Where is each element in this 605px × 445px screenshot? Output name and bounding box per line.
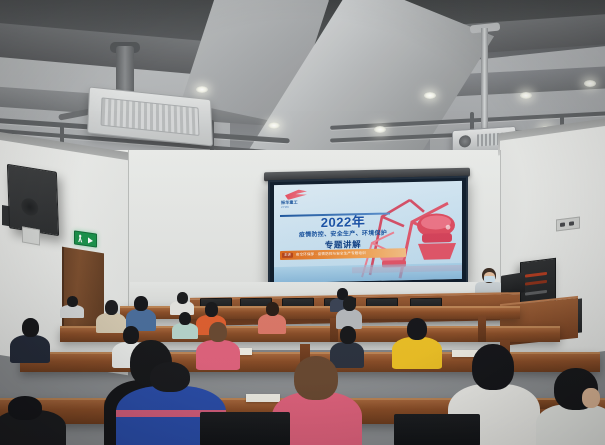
wall-speaker-icon [7,164,59,236]
face-mask-icon [484,276,495,282]
slide-water-band [274,263,462,283]
attendee-body [392,337,442,369]
logo-subname: ZPMC [281,205,315,210]
attendee-head [105,300,118,315]
ac-grille [100,97,199,136]
attendee-grey-shirt [336,296,362,328]
ribbon-badge: 主讲 [282,253,293,258]
attendee-yellow-shirt [392,318,442,366]
projector-pole [481,28,488,132]
rack-panel-slot [525,290,547,296]
speaker-cone-icon [21,197,39,217]
attendee-pink-shirt-row2 [196,322,240,366]
attendee-head [294,356,338,400]
slide-logo: 振华重工 ZPMC [281,189,315,212]
lecture-hall-photo: 振华重工 ZPMC 2022年 疫情防控、安全生产、环境保护 专题讲解 主讲 安… [0,0,605,445]
desk-divider [478,316,486,342]
exit-arrow-icon [88,237,93,244]
attendee-head [150,362,190,392]
projection-screen: 振华重工 ZPMC 2022年 疫情防控、安全生产、环境保护 专题讲解 主讲 安… [268,176,468,289]
attendee-body [536,404,605,445]
ceiling-downlight-icon [196,86,208,93]
attendee-head [22,318,39,337]
ribbon-text: 安全环保部 · 疫情防控与安全生产专题培训 [296,251,366,258]
attendee-salmon-top [258,302,286,332]
attendee-body [172,323,198,339]
exit-running-figure-icon [78,234,83,243]
slide-year: 2022年 [282,214,404,231]
chair-back [200,412,290,445]
rack-status-led [525,280,547,286]
ceiling-downlight-icon [374,126,386,133]
projector-lens-icon [459,135,471,148]
attendee-head [343,296,356,311]
ceiling-downlight-icon [584,80,596,87]
attendee-corner-right [536,368,605,445]
logo-text-block: 振华重工 ZPMC [281,200,315,210]
outlet-socket [569,221,574,226]
wall-junction-box [22,226,40,245]
attendee-denim-jacket [126,296,156,328]
attendee-head [472,344,514,390]
outlet-socket [560,222,565,227]
attendee-head [209,322,227,342]
ceiling-downlight-icon [268,122,280,129]
attendee-head [134,296,148,311]
attendee-face [582,388,600,408]
slide-title-block: 2022年 疫情防控、安全生产、环境保护 专题讲解 [282,214,404,252]
attendee-head [205,302,218,317]
attendee-back-right [60,296,84,316]
ceiling-downlight-icon [424,92,436,99]
attendee-mint-shirt [172,312,198,336]
attendee-body [258,314,286,334]
attendee-head [67,296,78,307]
attendee-head [407,318,427,340]
attendee-foreground-left [0,396,66,445]
ceiling-downlight-icon [520,92,532,99]
attendee-back-left [170,292,194,312]
attendee-head [266,302,279,316]
rack-status-led [525,272,547,278]
attendee-head [8,396,42,420]
chair-back [394,414,480,445]
attendee-head [340,326,356,344]
attendee-body [10,335,50,363]
attendee-head [179,312,191,325]
attendee-head [177,292,188,304]
presentation-slide: 振华重工 ZPMC 2022年 疫情防控、安全生产、环境保护 专题讲解 主讲 安… [274,181,462,283]
company-logo-icon [285,189,307,199]
attendee-dark-navy [10,318,50,360]
